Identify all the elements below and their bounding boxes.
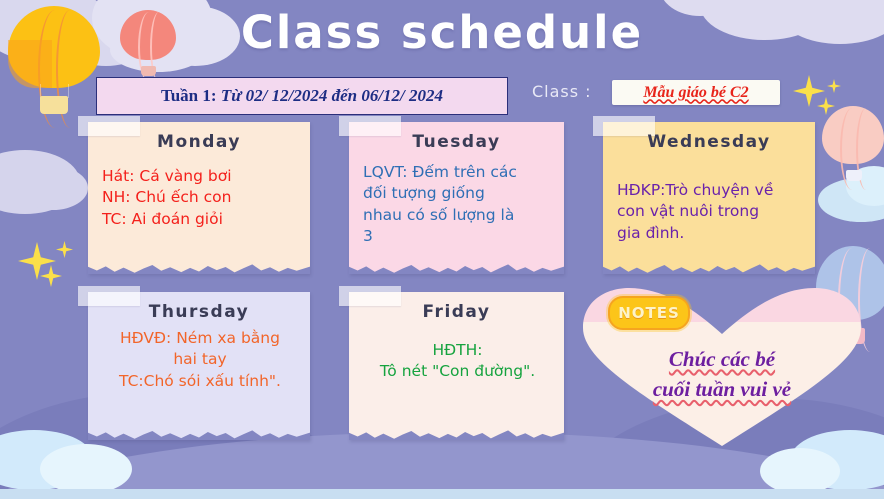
class-name-value: Mẫu giáo bé C2 <box>643 84 748 102</box>
sparkle-right-large <box>793 75 825 107</box>
week-banner: Tuần 1: Từ 02/ 12/2024 đến 06/12/ 2024 <box>96 77 508 115</box>
day-content: HĐVĐ: Ném xa bằng hai tay TC:Chó sói xấu… <box>102 328 298 392</box>
day-name: Wednesday <box>603 132 815 152</box>
day-content: Hát: Cá vàng bơi NH: Chú ếch con TC: Ai … <box>102 166 298 230</box>
notes-badge: NOTES <box>608 296 690 330</box>
notes-badge-label: NOTES <box>618 304 680 322</box>
week-banner-text: Tuần 1: Từ 02/ 12/2024 đến 06/12/ 2024 <box>161 86 443 106</box>
day-card-monday[interactable]: Monday Hát: Cá vàng bơi NH: Chú ếch con … <box>88 122 310 274</box>
week-range: Từ 02/ 12/2024 đến 06/12/ 2024 <box>221 86 443 105</box>
torn-edge <box>603 258 815 274</box>
cloud-bottom-left-2 <box>40 444 132 494</box>
sparkle-left-large <box>18 242 56 280</box>
schedule-poster: Class schedule Tuần 1: Từ 02/ 12/2024 đế… <box>0 0 884 499</box>
day-content: HĐKP:Trò chuyện về con vật nuôi trong gi… <box>617 180 803 244</box>
day-content: LQVT: Đếm trên các đối tượng giống nhau … <box>363 162 552 248</box>
day-name: Tuesday <box>349 132 564 152</box>
day-card-friday[interactable]: Friday HĐTH: Tô nét "Con đường". <box>349 292 564 440</box>
day-name: Monday <box>88 132 310 152</box>
notes-message: Chúc các bé cuối tuần vui vẻ <box>605 344 839 405</box>
sparkle-right-mid <box>817 97 835 115</box>
cloud-bottom-right-2 <box>760 448 840 494</box>
day-name: Friday <box>349 302 564 322</box>
notes-heart[interactable]: NOTES Chúc các bé cuối tuần vui vẻ <box>583 288 861 446</box>
cloud-left-mid <box>0 150 80 214</box>
cloud-bottom-left <box>0 430 94 490</box>
class-name-field[interactable]: Mẫu giáo bé C2 <box>612 80 780 105</box>
torn-edge <box>88 424 310 440</box>
sparkle-left-mid <box>40 265 62 287</box>
balloon-pink <box>822 106 884 188</box>
ground-strip <box>0 489 884 499</box>
day-name: Thursday <box>88 302 310 322</box>
cloud-left-mid-2 <box>18 166 88 210</box>
cloud-right-blue <box>818 178 884 222</box>
torn-edge <box>349 424 564 440</box>
sparkle-right-small <box>827 79 841 93</box>
class-label: Class : <box>532 82 592 101</box>
sparkle-left-small <box>56 241 73 258</box>
torn-edge <box>88 258 310 274</box>
cloud-right-blue-2 <box>846 166 884 206</box>
day-content: HĐTH: Tô nét "Con đường". <box>363 340 552 383</box>
torn-edge <box>349 258 564 274</box>
page-title: Class schedule <box>0 6 884 59</box>
day-card-wednesday[interactable]: Wednesday HĐKP:Trò chuyện về con vật nuô… <box>603 122 815 274</box>
day-card-tuesday[interactable]: Tuesday LQVT: Đếm trên các đối tượng giố… <box>349 122 564 274</box>
week-prefix: Tuần 1: <box>161 86 217 105</box>
day-card-thursday[interactable]: Thursday HĐVĐ: Ném xa bằng hai tay TC:Ch… <box>88 292 310 440</box>
